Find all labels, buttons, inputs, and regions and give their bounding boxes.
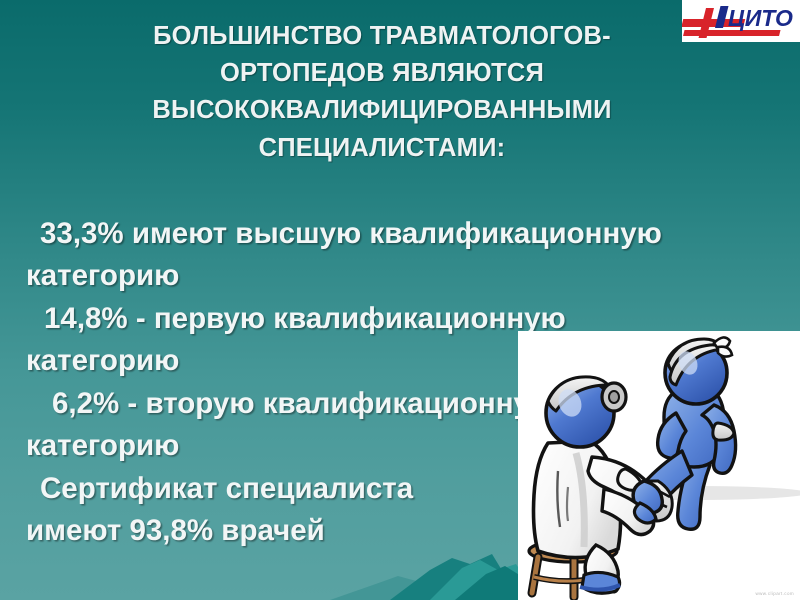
title-line-3: ВЫСОКОКВАЛИФИЦИРОВАННЫМИ bbox=[62, 92, 702, 129]
page-title: БОЛЬШИНСТВО ТРАВМАТОЛОГОВ- ОРТОПЕДОВ ЯВЛ… bbox=[62, 18, 702, 167]
illustration-panel: www.clipart.com bbox=[518, 331, 800, 600]
doctor-figure bbox=[529, 377, 662, 597]
stat-item-1-line-2: категорию bbox=[26, 255, 778, 297]
title-line-2: ОРТОПЕДОВ ЯВЛЯЮТСЯ bbox=[62, 55, 702, 92]
stat-item-1-line-1: 33,3% имеют высшую квалификационную bbox=[26, 213, 778, 255]
image-watermark: www.clipart.com bbox=[755, 591, 794, 596]
title-line-4: СПЕЦИАЛИСТАМИ: bbox=[62, 130, 702, 167]
stat-item-1: 33,3% имеют высшую квалификационную кате… bbox=[26, 213, 778, 298]
doctor-bandaging-patient-icon bbox=[518, 331, 800, 600]
cito-logo-text: ЦИТО bbox=[728, 5, 793, 31]
slide: ЦИТО БОЛЬШИНСТВО ТРАВМАТОЛОГОВ- ОРТОПЕДО… bbox=[0, 0, 800, 600]
title-line-1: БОЛЬШИНСТВО ТРАВМАТОЛОГОВ- bbox=[62, 18, 702, 55]
